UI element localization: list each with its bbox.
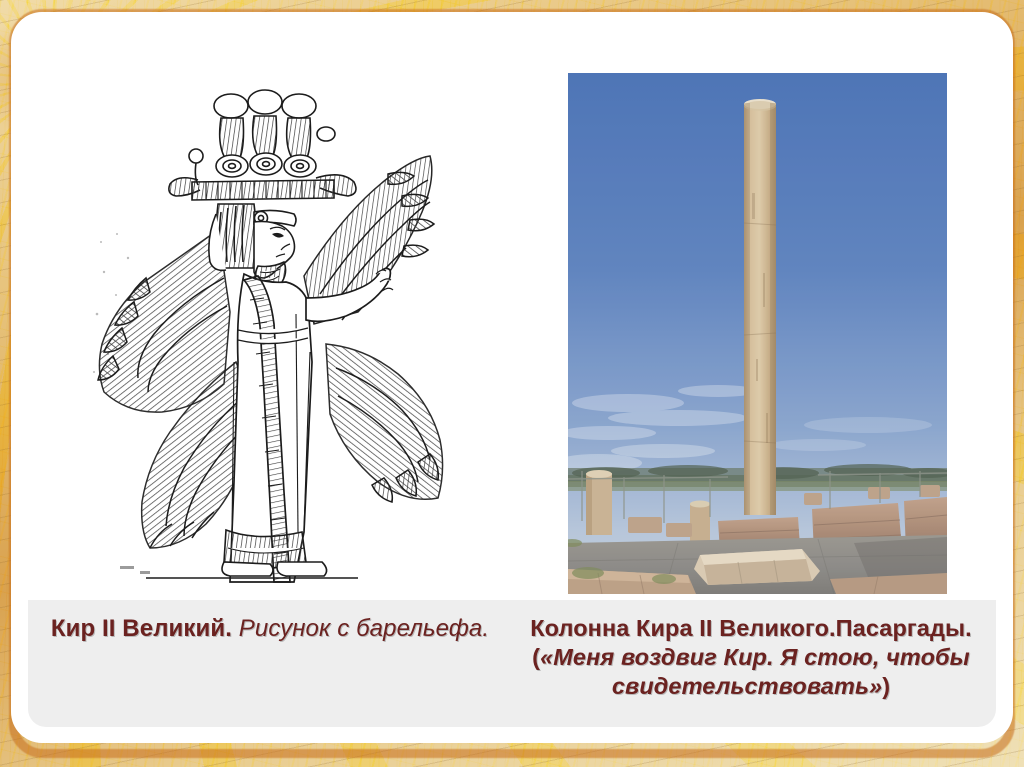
caption-band: Кир II Великий. Рисунок с барельефа. Кол… [28,600,996,727]
media-row [28,28,996,600]
cyrus-winged-genius-line-drawing [58,62,448,584]
caption-left: Кир II Великий. Рисунок с барельефа. [28,600,512,727]
slide: Кир II Великий. Рисунок с барельефа. Кол… [0,0,1024,767]
caption-right: Колонна Кира II Великого.Пасаргады. («Ме… [512,600,996,727]
caption-left-italic: Рисунок с барельефа. [232,615,489,642]
caption-left-text: Кир II Великий. Рисунок с барельефа. [42,614,498,643]
caption-right-italic: «Меня воздвиг Кир. Я стою, чтобы свидете… [540,644,970,699]
pasargadae-column-photograph [568,73,947,594]
slide-card: Кир II Великий. Рисунок с барельефа. Кол… [16,17,1008,738]
caption-left-bold: Кир II Великий [51,615,225,642]
caption-right-text: Колонна Кира II Великого.Пасаргады. («Ме… [516,614,986,701]
caption-right-close-paren: ) [882,673,890,699]
slide-card-inner: Кир II Великий. Рисунок с барельефа. Кол… [28,28,996,727]
caption-left-bold-punct: . [225,615,232,642]
